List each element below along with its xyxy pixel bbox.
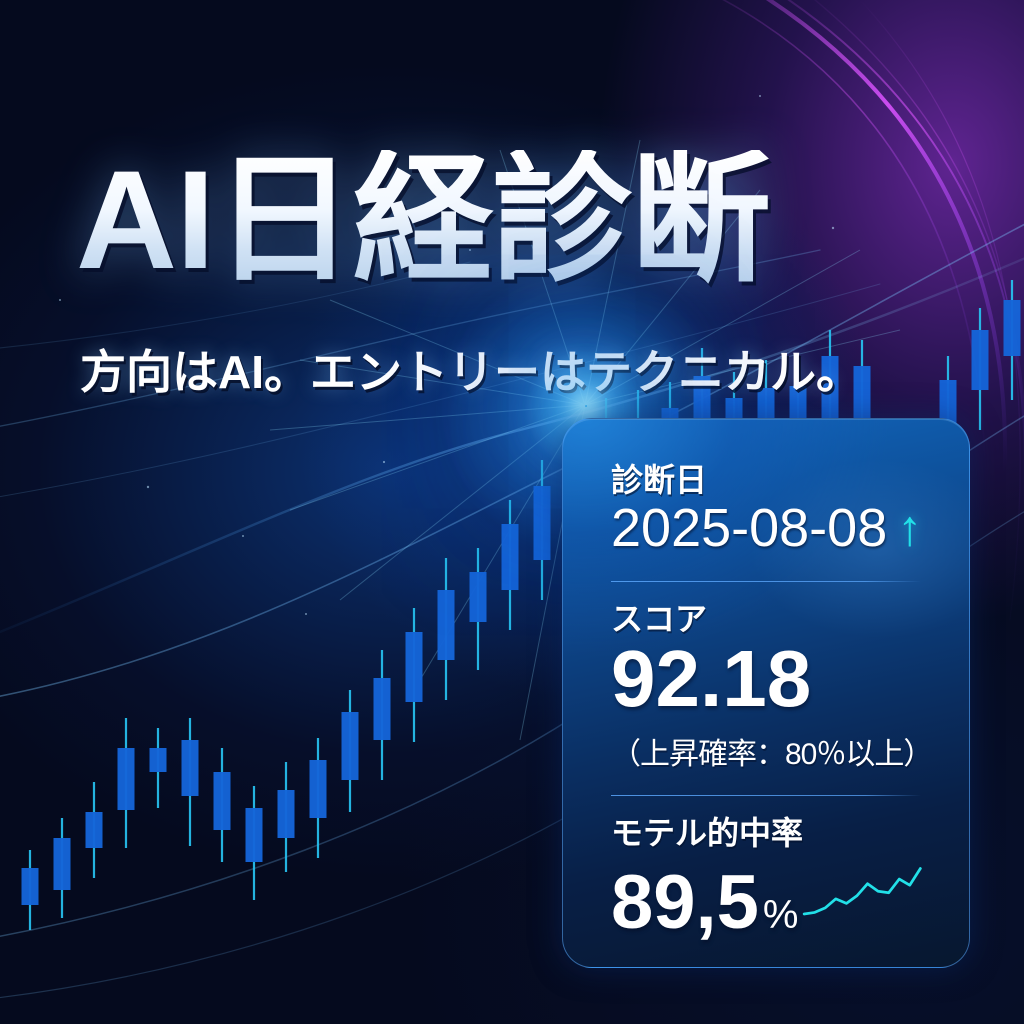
uptrend-sparkline-icon	[799, 855, 926, 929]
page-subtitle: 方向はAI。エントリーはテクニカル。	[80, 336, 862, 402]
date-block: 診断日 2025-08-08 ↑	[611, 463, 929, 559]
accuracy-label: モテル的中率	[611, 816, 929, 851]
accuracy-block: モテル的中率 89,5 %	[611, 816, 929, 941]
date-label: 診断日	[611, 463, 929, 498]
light-burst-icon	[585, 405, 587, 407]
score-block: スコア 92.18 （上昇確率：80％以上）	[611, 602, 929, 773]
page-title: AI日経診断	[76, 150, 770, 290]
divider-1	[611, 581, 921, 582]
accuracy-value-row: 89,5 %	[611, 865, 799, 941]
diagnosis-card: 診断日 2025-08-08 ↑ スコア 92.18 （上昇確率：80％以上） …	[562, 418, 970, 968]
accuracy-value: 89,5	[611, 865, 759, 941]
divider-2	[611, 795, 921, 796]
date-value: 2025-08-08	[611, 498, 887, 558]
score-label: スコア	[611, 602, 929, 637]
score-value: 92.18	[611, 639, 929, 719]
accuracy-unit: %	[763, 895, 799, 935]
score-note: （上昇確率：80％以上）	[611, 729, 929, 773]
poster-canvas: AI日経診断 方向はAI。エントリーはテクニカル。 診断日 2025-08-08…	[0, 0, 1024, 1024]
trend-up-icon: ↑	[897, 503, 922, 553]
date-value-row: 2025-08-08 ↑	[611, 498, 929, 558]
